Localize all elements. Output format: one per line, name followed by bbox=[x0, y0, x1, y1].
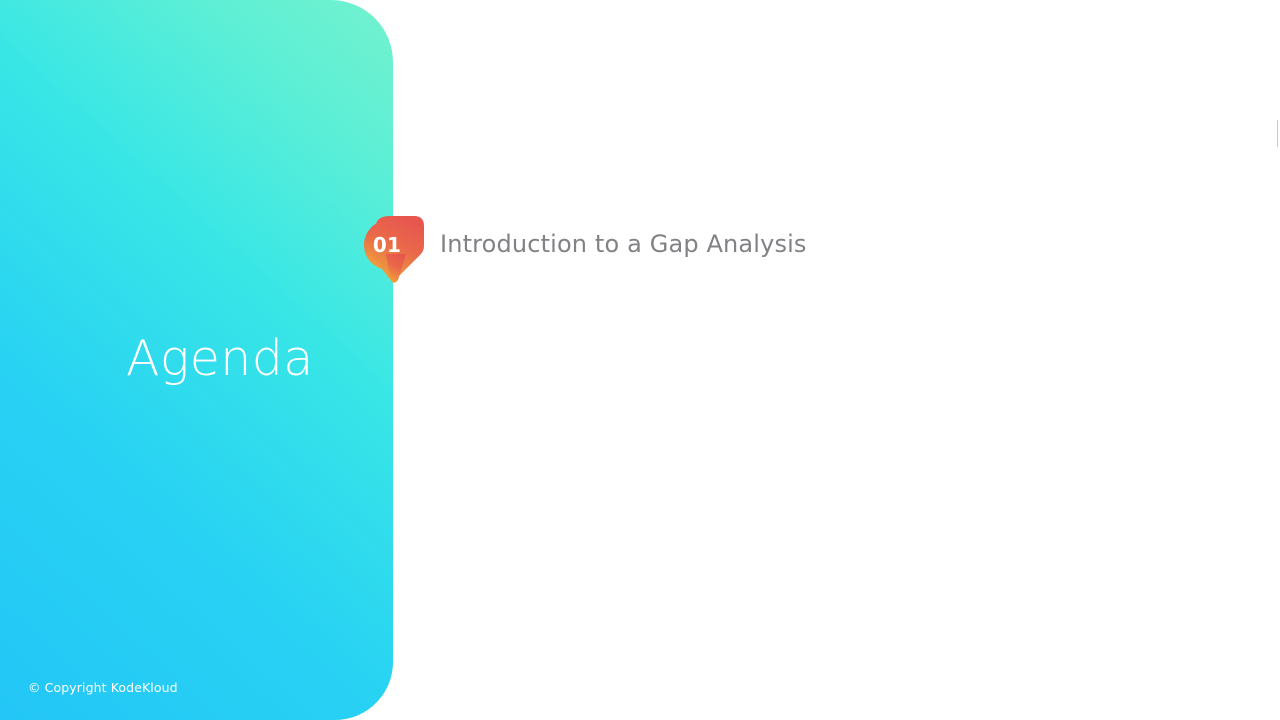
page-title: Agenda bbox=[126, 332, 314, 386]
agenda-item-label: Introduction to a Gap Analysis bbox=[440, 230, 807, 258]
text-caret-artifact bbox=[1277, 120, 1278, 147]
agenda-slide: Agenda © Copyright KodeKloud bbox=[0, 0, 1280, 720]
agenda-number-label: 01 bbox=[362, 202, 412, 287]
agenda-number-badge: 01 bbox=[362, 202, 428, 287]
copyright-text: © Copyright KodeKloud bbox=[28, 680, 178, 695]
left-gradient-panel: Agenda © Copyright KodeKloud bbox=[0, 0, 393, 720]
agenda-item-01[interactable]: 01 Introduction to a Gap Analysis bbox=[362, 200, 807, 288]
